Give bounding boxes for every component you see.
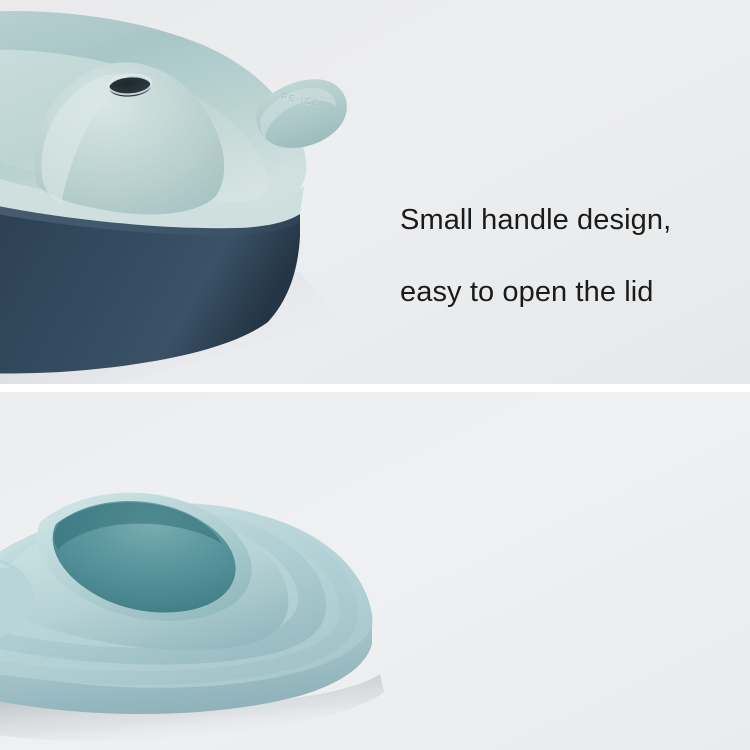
caption-line-1: Small handle design, — [400, 202, 730, 238]
panel-divider — [0, 384, 750, 392]
product-feature-image: RE-ICE RE-ICE Small handle design, easy … — [0, 0, 750, 750]
caption-line-2: easy to open the lid — [400, 274, 730, 310]
caption-small-handle-design: Small handle design, easy to open the li… — [400, 166, 730, 346]
product-photo-raised-edge — [0, 392, 750, 750]
panel-small-handle-design: RE-ICE RE-ICE Small handle design, easy … — [0, 0, 750, 384]
panel-raised-edge: Raise the edge to prevent overflow — [0, 392, 750, 750]
